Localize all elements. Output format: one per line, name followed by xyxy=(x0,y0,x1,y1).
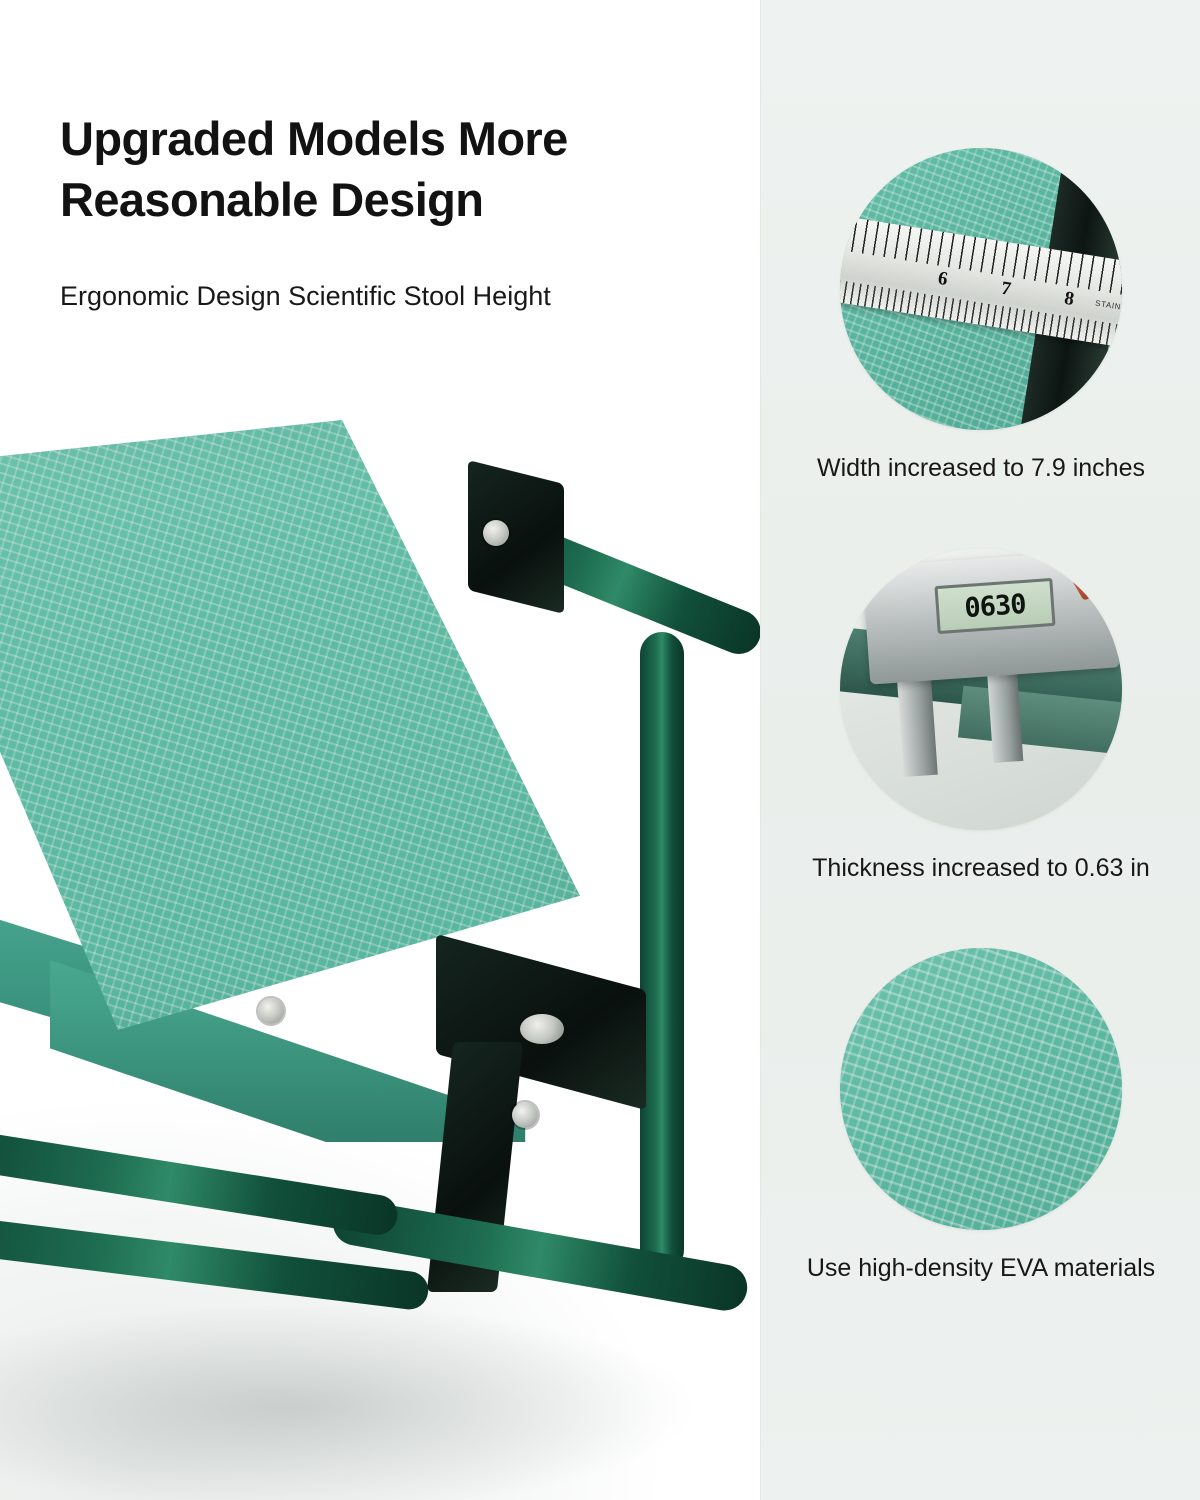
metal-bracket-top xyxy=(468,460,564,614)
feature-card-width: 6 7 8 STAINLESS Width increased to 7.9 i… xyxy=(761,148,1200,486)
caliper-lcd-screen: 0630 xyxy=(934,578,1055,634)
eva-foam-texture xyxy=(840,948,1122,1230)
right-feature-panel: 6 7 8 STAINLESS Width increased to 7.9 i… xyxy=(760,0,1200,1500)
ruler-number-6: 6 xyxy=(936,268,949,291)
feature-image-thickness: 0630 xyxy=(840,548,1122,830)
ruler-number-8: 8 xyxy=(1063,288,1076,311)
screw-top xyxy=(483,520,509,546)
feature-caption-material: Use high-density EVA materials xyxy=(761,1252,1200,1286)
floor-shadow xyxy=(0,1302,700,1500)
caliper-reading: 0630 xyxy=(963,588,1026,623)
product-feature-infographic: Upgraded Models More Reasonable Design E… xyxy=(0,0,1200,1500)
screw-leg xyxy=(512,1102,538,1128)
frame-tube-vertical xyxy=(640,632,684,1272)
feature-caption-thickness: Thickness increased to 0.63 in xyxy=(761,852,1200,886)
feature-card-material: Use high-density EVA materials xyxy=(761,948,1200,1286)
feature-card-thickness: 0630 Thickness increased to 0.63 in xyxy=(761,548,1200,886)
page-subtitle: Ergonomic Design Scientific Stool Height xyxy=(60,278,720,314)
feature-image-material xyxy=(840,948,1122,1230)
screw-pad-front xyxy=(258,998,284,1024)
page-title: Upgraded Models More Reasonable Design xyxy=(60,108,720,230)
feature-image-width: 6 7 8 STAINLESS xyxy=(840,148,1122,430)
hero-product-photo xyxy=(0,402,760,1500)
left-panel: Upgraded Models More Reasonable Design E… xyxy=(0,0,760,1500)
rivet-pin xyxy=(520,1014,564,1044)
ruler-number-7: 7 xyxy=(1000,278,1013,301)
feature-caption-width: Width increased to 7.9 inches xyxy=(761,452,1200,486)
ruler-brand-label: STAINLESS xyxy=(1095,299,1122,316)
